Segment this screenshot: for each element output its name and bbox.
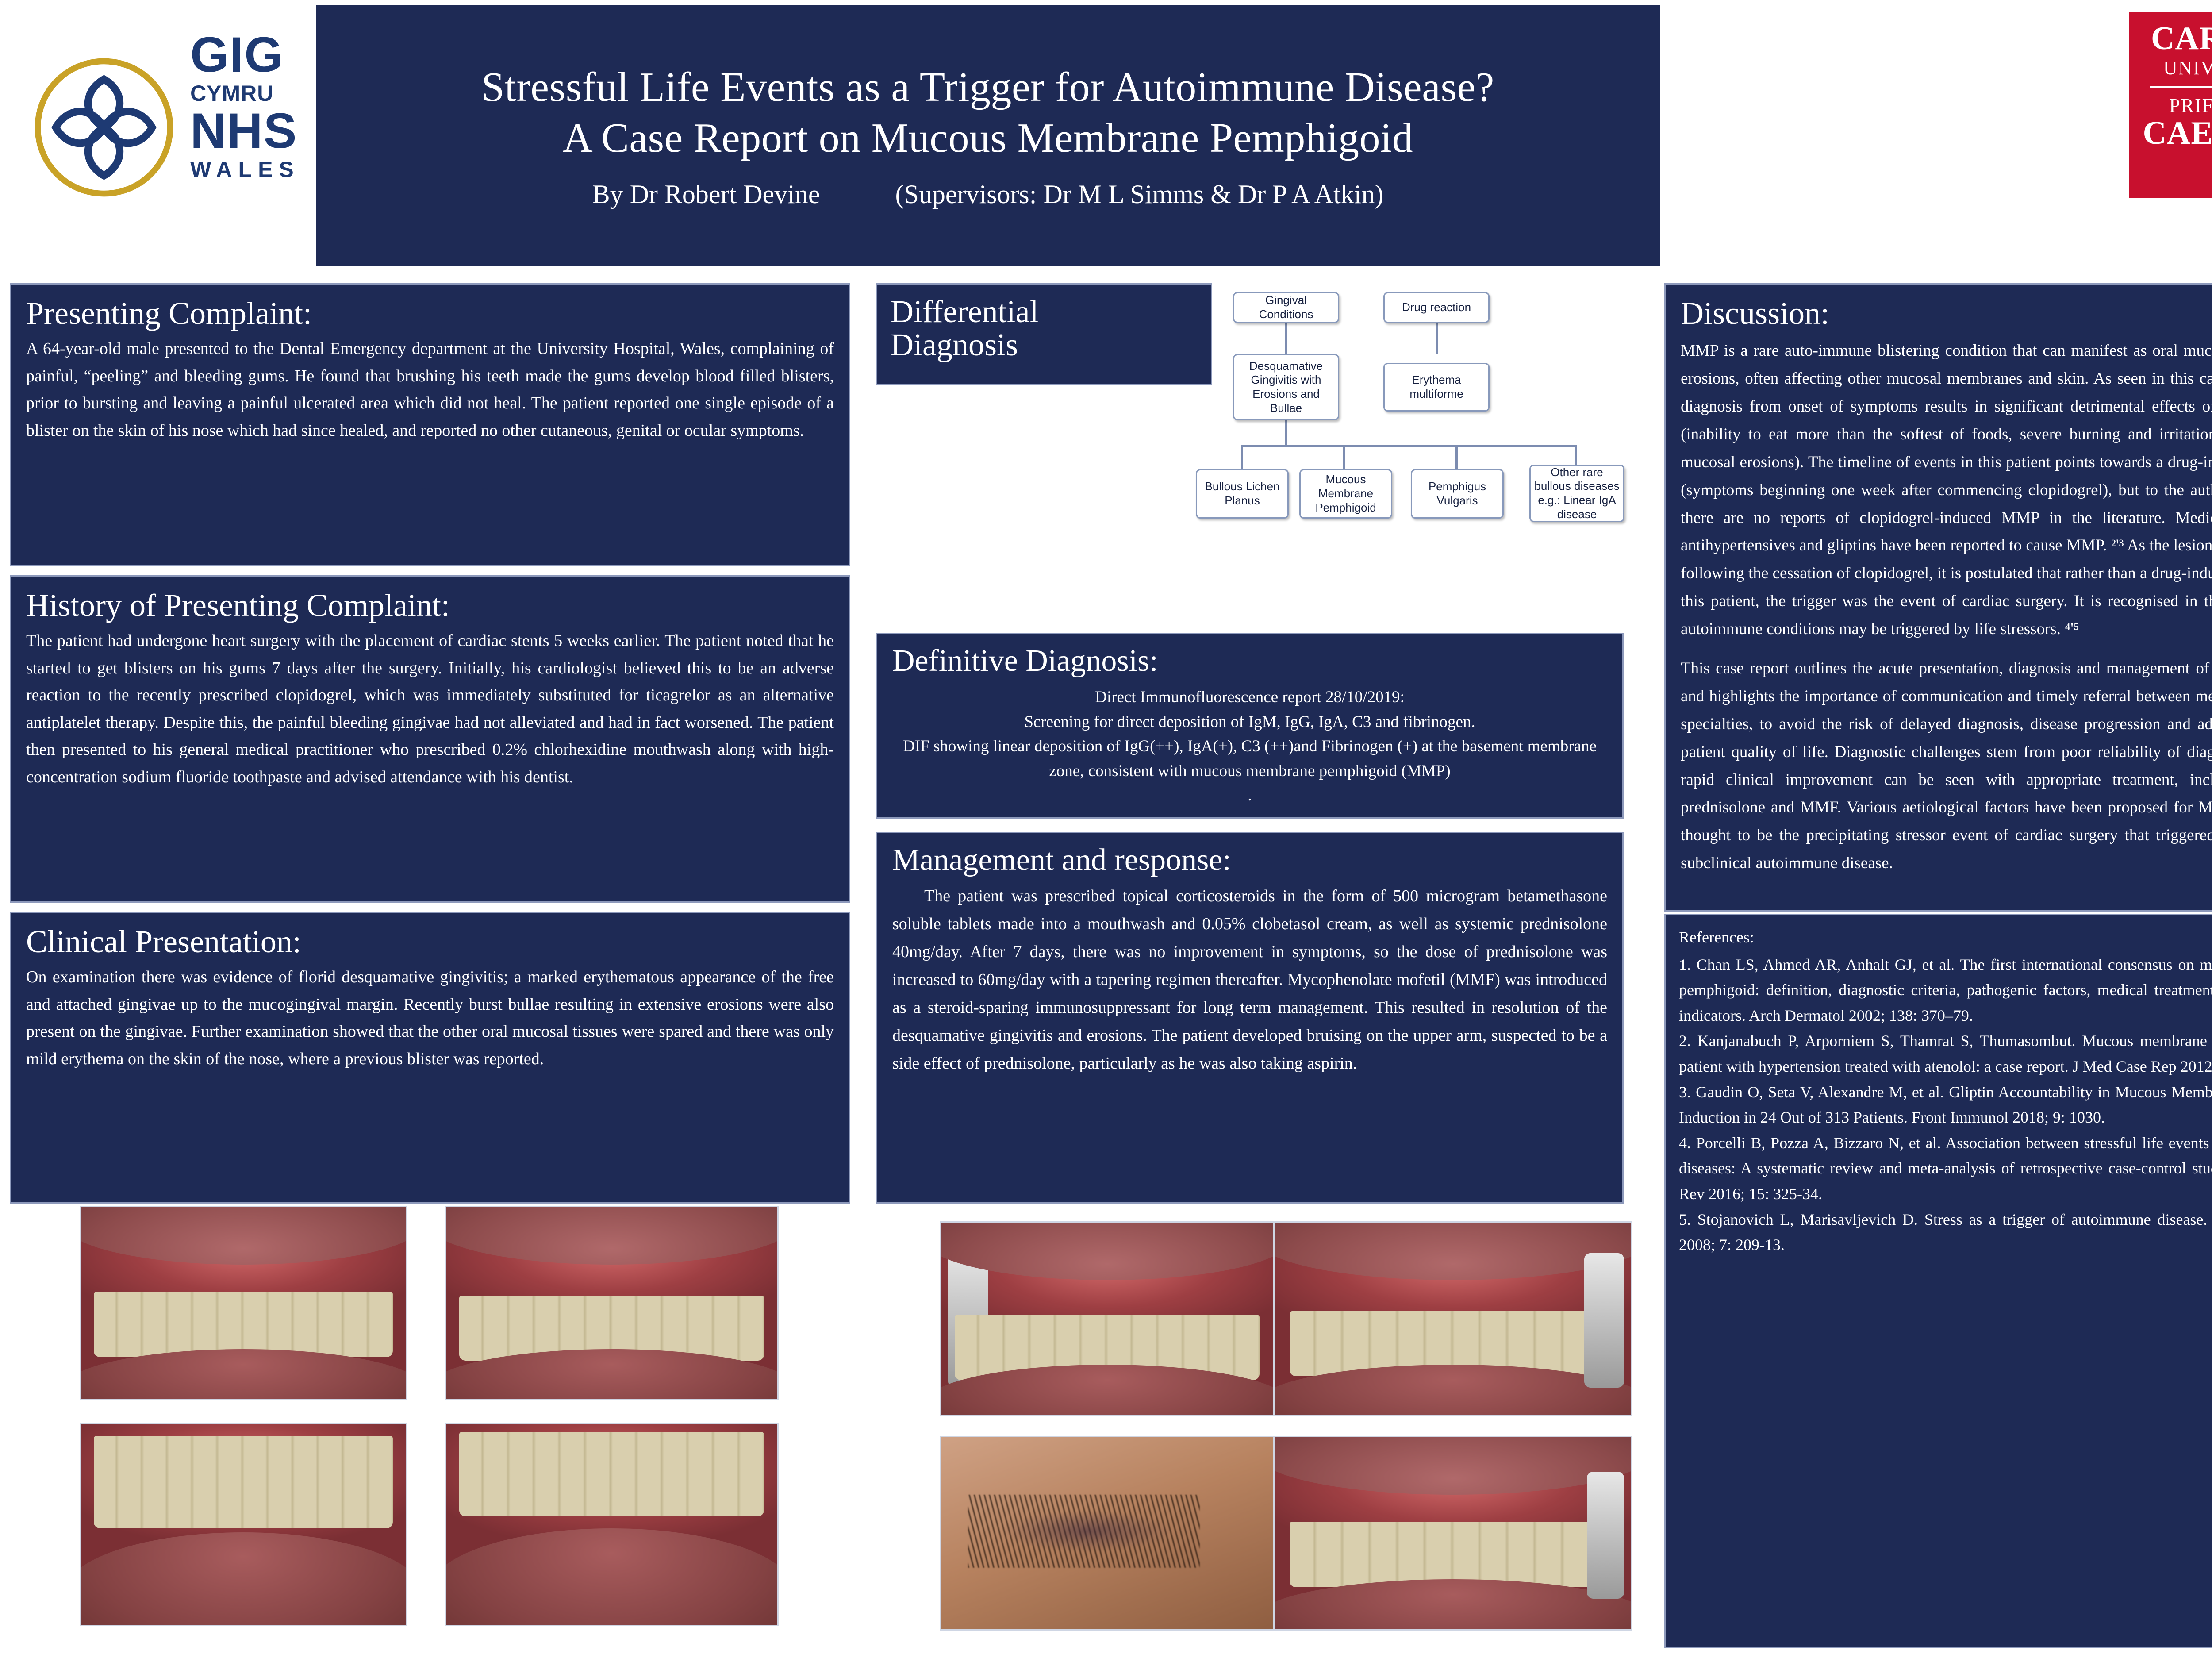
definitive-diagnosis-line-3: DIF showing linear deposition of IgG(++)…: [892, 734, 1607, 783]
poster-author: By Dr Robert Devine: [592, 179, 820, 210]
flow-connector-desquamative-down: [1285, 420, 1287, 446]
poster-byline: By Dr Robert Devine (Supervisors: Dr M L…: [592, 179, 1384, 210]
nhs-wales-logo: GIG CYMRU NHS WALES: [20, 8, 303, 256]
teeth-row: [94, 1292, 392, 1357]
photo-content: [1275, 1437, 1631, 1629]
reference-item-4: 4. Porcelli B, Pozza A, Bizzaro N, et al…: [1679, 1131, 2212, 1207]
definitive-diagnosis-line-2: Screening for direct deposition of IgM, …: [892, 710, 1607, 735]
lip-upper: [940, 1221, 1274, 1280]
clinical-photo-lower-anterior-close-up: [80, 1423, 407, 1626]
flow-node-mucous-membrane-pemphigoid[interactable]: Mucous Membrane Pemphigoid: [1299, 469, 1392, 519]
cardiff-divider: [2150, 86, 2212, 88]
flow-connector-gingival-to-desquamative: [1285, 322, 1287, 354]
clinical-photo-right-buccal: [445, 1206, 779, 1400]
reference-item-1: 1. Chan LS, Ahmed AR, Anhalt GJ, et al. …: [1679, 952, 2212, 1029]
references-title: References:: [1679, 925, 2212, 950]
flow-node-bullous-lichen-planus[interactable]: Bullous Lichen Planus: [1196, 469, 1289, 519]
flow-node-other-rare-bullous-diseases[interactable]: Other rare bullous diseases e.g.: Linear…: [1529, 465, 1624, 522]
lip-upper: [445, 1206, 779, 1265]
flow-node-other-rare-bullous-diseases-label: Other rare bullous diseases e.g.: Linear…: [1533, 465, 1621, 522]
clinical-photo-left-retracted: [940, 1221, 1274, 1416]
flow-node-pemphigus-vulgaris[interactable]: Pemphigus Vulgaris: [1411, 469, 1504, 519]
section-definitive-diagnosis: Definitive Diagnosis: Direct Immunofluor…: [876, 633, 1624, 819]
section-references: References: 1. Chan LS, Ahmed AR, Anhalt…: [1664, 914, 2212, 1648]
discussion-title: Discussion:: [1681, 296, 2212, 331]
section-management-and-response: Management and response: The patient was…: [876, 832, 1624, 1204]
history-body: The patient had undergone heart surgery …: [26, 627, 834, 791]
lip-lower: [445, 1528, 779, 1626]
flow-connector-horizontal-bus: [1241, 445, 1577, 447]
cardiff-university-logo: CARDIFF UNIVERSITY PRIFYSGOL CAERDYĐ: [2129, 12, 2212, 198]
nhs-cymru-text: CYMRU: [190, 82, 300, 104]
poster-header: Stressful Life Events as a Trigger for A…: [316, 5, 1660, 266]
section-presenting-complaint: Presenting Complaint: A 64-year-old male…: [10, 283, 850, 566]
photo-content: [81, 1424, 406, 1625]
cheek-retractor: [1584, 1253, 1624, 1388]
flow-node-desquamative-gingivitis-label: Desquamative Gingivitis with Erosions an…: [1237, 359, 1335, 415]
flow-connector-to-pv: [1455, 445, 1458, 470]
photo-content: [446, 1207, 777, 1399]
clinical-photo-right-retracted: [1274, 1221, 1632, 1416]
presenting-complaint-body: A 64-year-old male presented to the Dent…: [26, 335, 834, 444]
reference-item-5: 5. Stojanovich L, Marisavljevich D. Stre…: [1679, 1207, 2212, 1258]
clinical-photo-anterior-gingivae: [80, 1206, 407, 1400]
flow-node-gingival-conditions-label: Gingival Conditions: [1237, 293, 1335, 321]
cardiff-line-3: PRIFYSGOL: [2129, 94, 2212, 117]
clinical-photo-post-treatment-resolution: [1274, 1436, 1632, 1631]
definitive-diagnosis-line-4: .: [892, 783, 1607, 808]
flow-node-mucous-membrane-pemphigoid-label: Mucous Membrane Pemphigoid: [1303, 473, 1388, 515]
lip-lower: [80, 1532, 407, 1626]
lip-lower: [80, 1349, 407, 1400]
clinical-presentation-body: On examination there was evidence of flo…: [26, 964, 834, 1073]
photo-content: [941, 1437, 1273, 1629]
cardiff-line-4: CAERDYĐ: [2129, 117, 2212, 150]
poster-supervisors: (Supervisors: Dr M L Simms & Dr P A Atki…: [895, 179, 1383, 210]
management-title: Management and response:: [892, 843, 1607, 877]
poster-root: GIG CYMRU NHS WALES Stressful Life Event…: [0, 0, 2212, 1658]
section-history-of-presenting-complaint: History of Presenting Complaint: The pat…: [10, 575, 850, 903]
clinical-photo-arm-bruising: [940, 1436, 1274, 1631]
photo-content: [81, 1207, 406, 1399]
photo-content: [1275, 1223, 1631, 1415]
definitive-diagnosis-title: Definitive Diagnosis:: [892, 644, 1607, 678]
teeth-row: [1290, 1522, 1617, 1587]
poster-title-line-1: Stressful Life Events as a Trigger for A…: [481, 62, 1494, 113]
nhs-gig-text: GIG: [190, 30, 300, 80]
lip-upper: [1274, 1436, 1632, 1495]
lip-upper: [1274, 1221, 1632, 1280]
flow-node-drug-reaction[interactable]: Drug reaction: [1383, 292, 1490, 323]
section-discussion: Discussion: MMP is a rare auto-immune bl…: [1664, 283, 2212, 912]
differential-diagnosis-title-line-1: Differential: [891, 294, 1198, 329]
flow-node-drug-reaction-label: Drug reaction: [1402, 300, 1471, 315]
history-title: History of Presenting Complaint:: [26, 588, 834, 623]
teeth-row: [459, 1432, 764, 1516]
management-body: The patient was prescribed topical corti…: [892, 882, 1607, 1078]
teeth-row: [94, 1436, 392, 1528]
poster-title-line-2: A Case Report on Mucous Membrane Pemphig…: [563, 113, 1413, 164]
lip-lower: [1274, 1579, 1632, 1631]
clinical-photo-upper-anterior-erosion: [445, 1423, 779, 1626]
cardiff-line-1: CARDIFF: [2129, 22, 2212, 55]
cheek-retractor: [1587, 1472, 1624, 1598]
reference-item-3: 3. Gaudin O, Seta V, Alexandre M, et al.…: [1679, 1080, 2212, 1131]
definitive-diagnosis-line-1: Direct Immunofluorescence report 28/10/2…: [892, 685, 1607, 710]
flow-node-erythema-multiforme-label: Erythema multiforme: [1387, 373, 1486, 401]
nhs-nhs-text: NHS: [190, 106, 300, 156]
differential-diagnosis-flowchart: Gingival Conditions Drug reaction Desqua…: [1214, 274, 1626, 624]
flow-node-bullous-lichen-planus-label: Bullous Lichen Planus: [1200, 480, 1285, 508]
lip-upper: [80, 1206, 407, 1265]
flow-node-gingival-conditions[interactable]: Gingival Conditions: [1233, 292, 1339, 323]
bruise-area: [1001, 1510, 1173, 1552]
presenting-complaint-title: Presenting Complaint:: [26, 296, 834, 331]
cardiff-line-2: UNIVERSITY: [2129, 57, 2212, 79]
clinical-presentation-title: Clinical Presentation:: [26, 924, 834, 959]
flow-node-erythema-multiforme[interactable]: Erythema multiforme: [1383, 363, 1490, 412]
flow-node-pemphigus-vulgaris-label: Pemphigus Vulgaris: [1415, 480, 1500, 508]
flow-connector-to-blp: [1241, 445, 1243, 470]
discussion-paragraph-2: This case report outlines the acute pres…: [1681, 655, 2212, 877]
reference-item-2: 2. Kanjanabuch P, Arporniem S, Thamrat S…: [1679, 1028, 2212, 1079]
photo-content: [446, 1424, 777, 1625]
photo-content: [941, 1223, 1273, 1415]
section-differential-diagnosis: Differential Diagnosis: [876, 283, 1212, 385]
discussion-paragraph-1: MMP is a rare auto-immune blistering con…: [1681, 337, 2212, 643]
section-clinical-presentation: Clinical Presentation: On examination th…: [10, 912, 850, 1204]
differential-diagnosis-title-line-2: Diagnosis: [891, 327, 1198, 362]
flow-connector-to-mmp: [1343, 445, 1345, 470]
nhs-logo-wordmark: GIG CYMRU NHS WALES: [190, 30, 300, 181]
flow-connector-drug-to-erythema: [1436, 322, 1438, 354]
nhs-wales-text: WALES: [190, 158, 300, 181]
flow-node-desquamative-gingivitis[interactable]: Desquamative Gingivitis with Erosions an…: [1233, 354, 1339, 420]
